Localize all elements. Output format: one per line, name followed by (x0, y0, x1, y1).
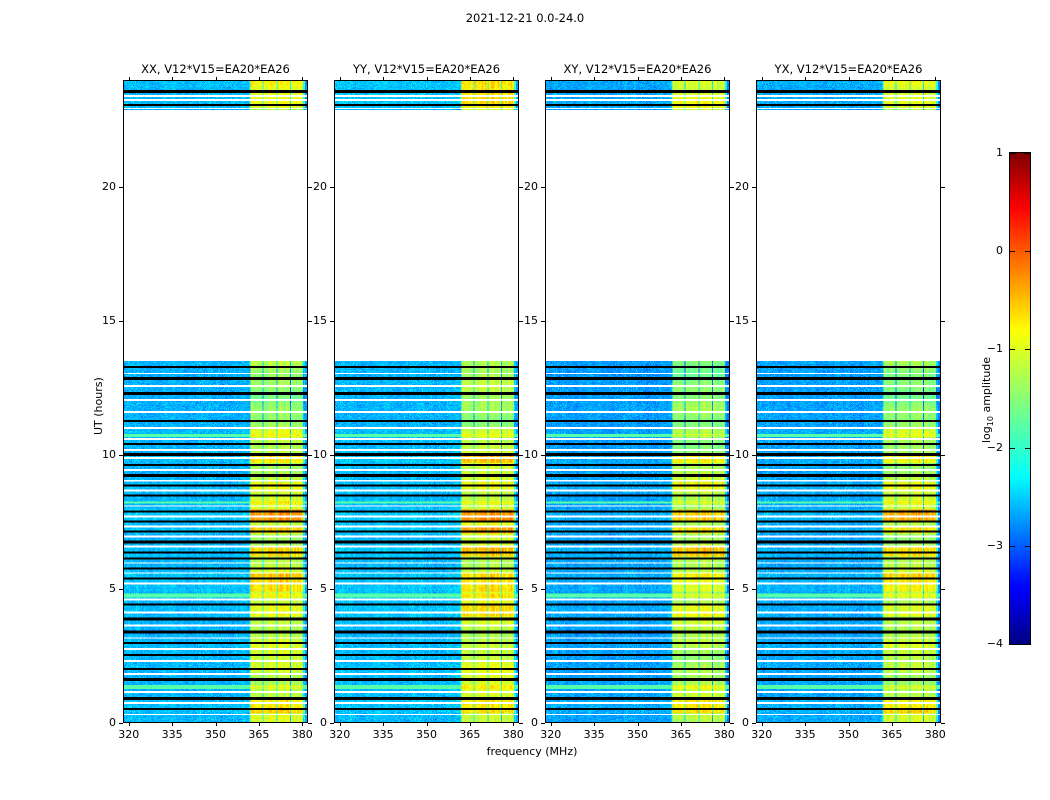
x-axis-tick (129, 722, 130, 726)
x-axis-tick (172, 722, 173, 726)
x-axis-tick-label: 365 (239, 728, 279, 741)
x-axis-tick (849, 77, 850, 81)
y-axis-tick (119, 723, 123, 724)
x-axis-tick (383, 77, 384, 81)
x-axis-tick-label: 350 (407, 728, 447, 741)
x-axis-tick-label: 380 (282, 728, 322, 741)
y-axis-tick-label: 10 (287, 448, 327, 461)
y-axis-tick-label: 15 (498, 314, 538, 327)
spectrum-image-yx (757, 81, 940, 722)
x-axis-tick-label: 335 (785, 728, 825, 741)
y-axis-tick (541, 321, 545, 322)
x-axis-tick (935, 77, 936, 81)
x-axis-tick-label: 365 (872, 728, 912, 741)
y-axis-tick-label: 10 (498, 448, 538, 461)
x-axis-tick-label: 350 (196, 728, 236, 741)
colorbar-tick-label: −3 (963, 539, 1003, 552)
x-axis-tick (216, 77, 217, 81)
spectrum-image-xy (546, 81, 729, 722)
x-axis-tick (594, 722, 595, 726)
y-axis-tick (330, 723, 334, 724)
y-axis-tick (330, 589, 334, 590)
colorbar-tick-label: −1 (963, 342, 1003, 355)
y-axis-tick-label: 5 (76, 582, 116, 595)
x-axis-tick (172, 77, 173, 81)
y-axis-tick-label: 5 (709, 582, 749, 595)
y-axis-tick-label: 20 (498, 180, 538, 193)
y-axis-tick (752, 589, 756, 590)
y-axis-tick-label: 0 (287, 716, 327, 729)
x-axis-tick (849, 722, 850, 726)
y-axis-tick-label: 5 (287, 582, 327, 595)
figure-canvas: 2021-12-21 0.0-24.0 UT (hours) frequency… (0, 0, 1050, 800)
colorbar-tick (1010, 644, 1015, 645)
x-axis-tick (638, 722, 639, 726)
x-axis-tick-label: 320 (320, 728, 360, 741)
y-axis-tick (752, 455, 756, 456)
colorbar-tick (1025, 349, 1030, 350)
y-axis-tick (941, 321, 945, 322)
x-axis-tick (340, 77, 341, 81)
colorbar-tick (1025, 153, 1030, 154)
y-axis-tick-label: 20 (709, 180, 749, 193)
x-axis-tick (762, 77, 763, 81)
x-axis-tick-label: 380 (493, 728, 533, 741)
x-axis-tick (470, 722, 471, 726)
y-axis-tick-label: 15 (76, 314, 116, 327)
x-axis-tick-label: 365 (661, 728, 701, 741)
x-axis-tick (805, 77, 806, 81)
y-axis-tick (119, 455, 123, 456)
y-axis-tick (541, 187, 545, 188)
x-axis-tick (681, 77, 682, 81)
colorbar-tick (1025, 448, 1030, 449)
x-axis-tick (892, 77, 893, 81)
x-axis-tick (762, 722, 763, 726)
x-axis-tick (216, 722, 217, 726)
colorbar-label: log10 amplitude (980, 356, 995, 442)
x-axis-tick-label: 320 (531, 728, 571, 741)
x-axis-tick (427, 722, 428, 726)
y-axis-tick-label: 20 (287, 180, 327, 193)
x-axis-tick (935, 722, 936, 726)
colorbar-tick-label: −4 (963, 637, 1003, 650)
y-axis-tick (330, 321, 334, 322)
y-axis-tick (941, 723, 945, 724)
figure-suptitle: 2021-12-21 0.0-24.0 (0, 11, 1050, 25)
x-axis-tick (259, 77, 260, 81)
x-axis-tick (681, 722, 682, 726)
y-axis-tick (941, 187, 945, 188)
spectrum-image-xx (124, 81, 307, 722)
x-axis-tick (594, 77, 595, 81)
x-axis-tick-label: 335 (152, 728, 192, 741)
y-axis-tick-label: 20 (76, 180, 116, 193)
y-axis-tick-label: 0 (76, 716, 116, 729)
x-axis-label: frequency (MHz) (123, 745, 941, 758)
colorbar-tick (1025, 546, 1030, 547)
y-axis-tick (752, 187, 756, 188)
y-axis-tick (119, 589, 123, 590)
colorbar-tick (1025, 644, 1030, 645)
y-axis-tick-label: 0 (709, 716, 749, 729)
x-axis-tick (805, 722, 806, 726)
y-axis-tick-label: 10 (76, 448, 116, 461)
y-axis-tick (119, 187, 123, 188)
spectrum-panel-xy[interactable] (545, 80, 730, 723)
x-axis-tick (638, 77, 639, 81)
y-axis-tick-label: 10 (709, 448, 749, 461)
x-axis-tick (340, 722, 341, 726)
x-axis-tick-label: 350 (829, 728, 869, 741)
y-axis-tick-label: 15 (709, 314, 749, 327)
y-axis-tick (330, 187, 334, 188)
y-axis-tick (752, 723, 756, 724)
x-axis-tick (427, 77, 428, 81)
spectrum-panel-yy[interactable] (334, 80, 519, 723)
y-axis-tick-label: 5 (498, 582, 538, 595)
colorbar-tick (1025, 251, 1030, 252)
y-axis-tick (752, 321, 756, 322)
y-axis-tick (541, 455, 545, 456)
x-axis-tick-label: 380 (704, 728, 744, 741)
panel-title-yx: YX, V12*V15=EA20*EA26 (716, 60, 981, 78)
y-axis-label: UT (hours) (92, 377, 105, 435)
colorbar-tick (1010, 153, 1015, 154)
colorbar-tick-label: 1 (963, 146, 1003, 159)
spectrum-image-yy (335, 81, 518, 722)
x-axis-tick-label: 335 (363, 728, 403, 741)
y-axis-tick-label: 15 (287, 314, 327, 327)
x-axis-tick-label: 320 (109, 728, 149, 741)
colorbar[interactable] (1009, 152, 1031, 645)
colorbar-tick-label: 0 (963, 244, 1003, 257)
colorbar-tick (1010, 448, 1015, 449)
y-axis-tick (541, 589, 545, 590)
x-axis-tick (892, 722, 893, 726)
x-axis-tick (259, 722, 260, 726)
y-axis-tick (941, 589, 945, 590)
spectrum-panel-yx[interactable] (756, 80, 941, 723)
x-axis-tick-label: 365 (450, 728, 490, 741)
y-axis-tick (119, 321, 123, 322)
colorbar-tick (1010, 251, 1015, 252)
x-axis-tick-label: 350 (618, 728, 658, 741)
x-axis-tick (470, 77, 471, 81)
spectrum-panel-xx[interactable] (123, 80, 308, 723)
y-axis-tick (330, 455, 334, 456)
y-axis-tick (541, 723, 545, 724)
x-axis-tick (551, 77, 552, 81)
x-axis-tick (383, 722, 384, 726)
x-axis-tick-label: 320 (742, 728, 782, 741)
y-axis-tick-label: 0 (498, 716, 538, 729)
y-axis-tick (941, 455, 945, 456)
x-axis-tick (129, 77, 130, 81)
x-axis-tick-label: 335 (574, 728, 614, 741)
x-axis-tick (551, 722, 552, 726)
colorbar-tick (1010, 349, 1015, 350)
x-axis-tick-label: 380 (915, 728, 955, 741)
colorbar-tick (1010, 546, 1015, 547)
